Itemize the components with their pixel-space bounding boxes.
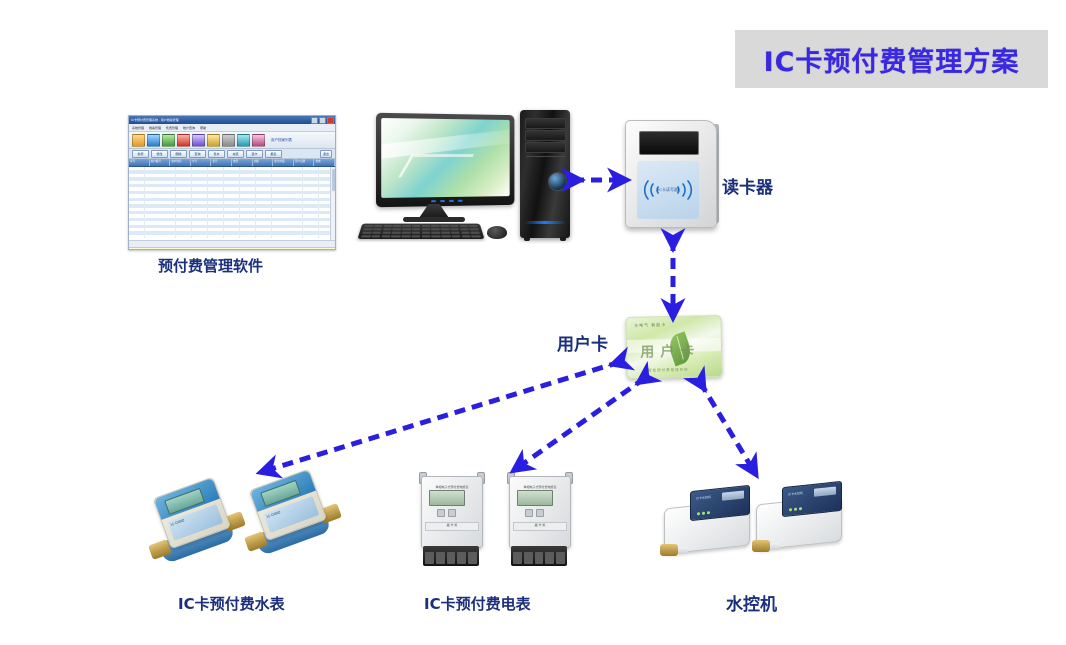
electric-meter-panel-text: 插 卡 处 <box>425 522 479 531</box>
table-row[interactable] <box>129 235 335 238</box>
card-read-icon[interactable] <box>192 134 205 147</box>
sw-button-6[interactable]: 退卡 <box>246 150 263 158</box>
software-toolbar[interactable]: 用户档案列表 <box>129 132 335 149</box>
reader-badge-text: IC卡读写器 <box>658 187 678 193</box>
column-header-4: 表号 <box>211 159 232 166</box>
water-controller-1: IC卡水控机 <box>660 486 756 558</box>
software-window-title: IC卡预付费管理系统 - 用户档案管理 <box>129 118 310 122</box>
column-header-0: 序号 <box>129 159 150 166</box>
electric-meter-group: 单相电子式预付费电能表 插 卡 处 单相电子式预付费电能表 插 卡 处 <box>415 470 585 580</box>
column-header-7: 累计用量 <box>273 159 294 166</box>
menu-item-4[interactable]: 帮助 <box>200 126 206 130</box>
menu-item-0[interactable]: 系统管理 <box>132 126 144 130</box>
sw-button-1[interactable]: 修改 <box>151 150 168 158</box>
sw-button-7[interactable]: 报表 <box>265 150 282 158</box>
column-header-6: 余额 <box>253 159 274 166</box>
software-button-row[interactable]: 新增 修改 删除 查询 售水 充值 退卡 报表 退出 <box>129 149 335 159</box>
close-button[interactable] <box>327 117 334 124</box>
sw-button-9[interactable]: 退出 <box>320 150 332 158</box>
water-controller-group: IC卡水控机 IC卡水控机 <box>660 482 850 582</box>
maximize-button[interactable] <box>319 117 326 124</box>
reader-body: IC卡读写器 <box>625 120 717 228</box>
water-controller-leds <box>697 511 710 515</box>
electric-meter-2: 单相电子式预付费电能表 插 卡 处 <box>503 472 577 572</box>
front-led-strip <box>524 221 566 224</box>
water-meter-group: IC CARD IC CARD <box>150 470 340 580</box>
user-icon[interactable] <box>252 134 265 147</box>
electric-meter-brand-text-2: 单相电子式预付费电能表 <box>510 477 570 489</box>
menu-item-3[interactable]: 统计查询 <box>183 126 195 130</box>
card-reader-caption: 读卡器 <box>722 173 773 198</box>
user-card-bottom-text: 智能预付费管理系统 <box>648 368 689 374</box>
title-banner: IC卡预付费管理方案 <box>735 30 1048 88</box>
software-menu-bar[interactable]: 系统管理 档案管理 售费管理 统计查询 帮助 <box>129 124 335 132</box>
reader-rfid-zone[interactable]: IC卡读写器 <box>637 161 699 219</box>
monitor-bezel-buttons <box>381 197 509 205</box>
user-card-face-text: 用户卡 <box>640 340 700 361</box>
user-card-top-text: 水电气 智能卡 <box>634 322 666 329</box>
water-controller-display-2 <box>814 486 836 496</box>
table-cell <box>176 235 192 238</box>
water-controller-outlet <box>660 544 678 556</box>
query-icon[interactable] <box>237 134 250 147</box>
drive-bay-3 <box>525 142 566 153</box>
column-header-3: 卡号 <box>191 159 212 166</box>
water-meter-2: IC CARD <box>246 470 338 562</box>
card-reader: IC卡读写器 <box>625 120 717 228</box>
reader-display <box>639 131 699 155</box>
pc-tower <box>520 110 570 238</box>
save-icon[interactable] <box>162 134 175 147</box>
menu-item-1[interactable]: 档案管理 <box>149 126 161 130</box>
column-header-1: 用户编号 <box>150 159 171 166</box>
sw-button-0[interactable]: 新增 <box>132 150 149 158</box>
electric-meter-1: 单相电子式预付费电能表 插 卡 处 <box>415 472 489 572</box>
table-cell <box>303 235 319 238</box>
water-controller-leds-2 <box>789 507 802 511</box>
print-icon[interactable] <box>222 134 235 147</box>
sw-button-5[interactable]: 充值 <box>227 150 244 158</box>
power-button[interactable] <box>548 172 567 191</box>
open-icon[interactable] <box>147 134 160 147</box>
water-controller-outlet-2 <box>752 540 770 552</box>
detail-panel[interactable] <box>129 247 335 250</box>
arrow-card-to-water-controller <box>700 382 752 468</box>
table-cell <box>145 235 176 238</box>
column-header-2: 用户姓名 <box>170 159 191 166</box>
electric-meter-panel-text-2: 插 卡 处 <box>513 522 567 531</box>
sw-button-3[interactable]: 查询 <box>189 150 206 158</box>
table-cell <box>224 235 240 238</box>
toolbar-note: 用户档案列表 <box>271 138 292 143</box>
column-header-5: 类型 <box>232 159 253 166</box>
table-cell <box>208 235 224 238</box>
prepaid-management-software-window[interactable]: IC卡预付费管理系统 - 用户档案管理 系统管理 档案管理 售费管理 统计查询 … <box>128 115 336 250</box>
table-cell <box>192 235 208 238</box>
grid-summary-bar <box>129 240 335 247</box>
user-card: 水电气 智能卡 用户卡 智能预付费管理系统 <box>625 315 722 379</box>
detail-panel-label <box>129 248 335 249</box>
menu-item-2[interactable]: 售费管理 <box>166 126 178 130</box>
optical-drive-bay <box>525 118 566 129</box>
card-write-icon[interactable] <box>207 134 220 147</box>
minimize-button[interactable] <box>311 117 318 124</box>
water-meter-1: IC CARD <box>150 478 242 570</box>
water-controller-2: IC卡水控机 <box>752 482 848 554</box>
software-caption: 预付费管理软件 <box>158 255 263 276</box>
title-banner-text: IC卡预付费管理方案 <box>764 40 1020 79</box>
software-table-header: 序号 用户编号 用户姓名 卡号 表号 类型 余额 累计用量 开户日期 状态 <box>129 159 335 167</box>
electric-meter-display <box>429 490 465 506</box>
mouse <box>487 226 507 239</box>
desktop-computer <box>355 108 580 248</box>
table-cell <box>256 235 272 238</box>
water-controller-caption: 水控机 <box>726 590 777 615</box>
sw-button-2[interactable]: 删除 <box>170 150 187 158</box>
electric-meter-terminal-block-2 <box>511 546 567 566</box>
monitor-base <box>403 217 465 222</box>
diagram-canvas: IC卡预付费管理方案 IC卡预付费管理系统 - 用户档案管理 系统管理 档案管理… <box>0 0 1066 640</box>
electric-meter-display-2 <box>517 490 553 506</box>
monitor-screen <box>381 118 509 198</box>
delete-icon[interactable] <box>177 134 190 147</box>
water-controller-display <box>722 490 744 500</box>
arrow-card-to-water-meter <box>268 362 620 470</box>
arrow-card-to-electric-meter <box>520 378 645 466</box>
table-cell <box>272 235 303 238</box>
software-data-grid[interactable] <box>129 167 335 240</box>
column-header-8: 开户日期 <box>294 159 315 166</box>
electric-meter-keys-2 <box>518 508 550 518</box>
software-title-bar: IC卡预付费管理系统 - 用户档案管理 <box>129 116 335 124</box>
drive-bay-2 <box>525 130 566 141</box>
keyboard <box>357 224 484 239</box>
electric-meter-brand-text: 单相电子式预付费电能表 <box>422 477 482 489</box>
grid-scrollbar[interactable] <box>330 167 335 240</box>
electric-meter-keys <box>430 508 462 518</box>
monitor <box>376 113 514 207</box>
electric-meter-caption: IC卡预付费电表 <box>424 593 531 614</box>
scrollbar-thumb[interactable] <box>332 169 335 191</box>
water-meter-caption: IC卡预付费水表 <box>178 593 285 614</box>
column-header-9: 状态 <box>314 159 335 166</box>
electric-meter-terminal-block <box>423 546 479 566</box>
table-cell <box>129 235 145 238</box>
rfid-wave-icon: IC卡读写器 <box>640 177 696 203</box>
user-card-caption: 用户卡 <box>557 330 608 355</box>
new-record-icon[interactable] <box>132 134 145 147</box>
sw-button-4[interactable]: 售水 <box>208 150 225 158</box>
table-cell <box>240 235 256 238</box>
